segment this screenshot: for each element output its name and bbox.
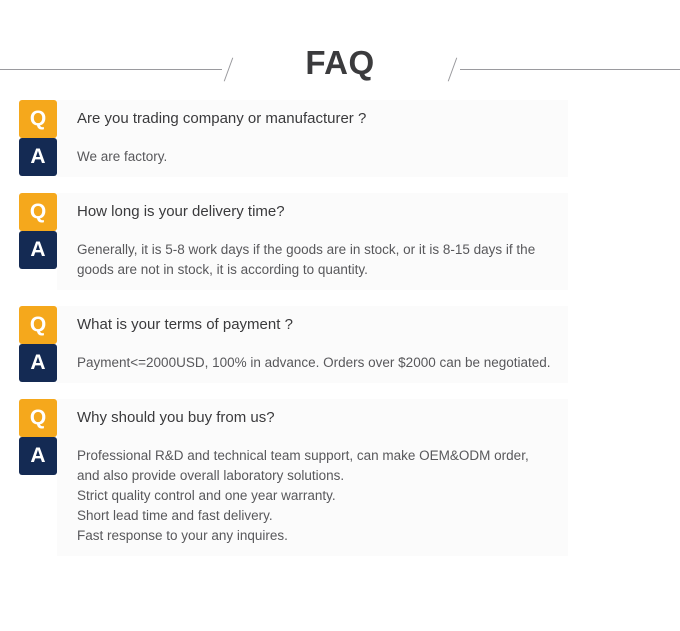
faq-answer-row: A Professional R&D and technical team su…: [0, 437, 680, 556]
question-panel: Why should you buy from us?: [57, 399, 568, 437]
faq-header: FAQ: [0, 0, 680, 100]
question-text: Why should you buy from us?: [77, 408, 275, 428]
answer-badge: A: [19, 138, 57, 176]
faq-item: Q How long is your delivery time? A Gene…: [0, 193, 680, 290]
question-panel: Are you trading company or manufacturer …: [57, 100, 568, 138]
faq-question-row[interactable]: Q Why should you buy from us?: [0, 399, 680, 437]
faq-item-gap: [0, 290, 680, 306]
faq-item-gap: [0, 383, 680, 399]
question-text: How long is your delivery time?: [77, 202, 285, 222]
faq-answer-row: A We are factory.: [0, 138, 680, 177]
question-panel: How long is your delivery time?: [57, 193, 568, 231]
answer-panel: We are factory.: [57, 138, 568, 177]
header-rule-right: [460, 69, 680, 70]
answer-text: We are factory.: [77, 147, 167, 167]
question-badge: Q: [19, 100, 57, 138]
question-text: What is your terms of payment ?: [77, 315, 293, 335]
faq-question-row[interactable]: Q How long is your delivery time?: [0, 193, 680, 231]
faq-question-row[interactable]: Q Are you trading company or manufacture…: [0, 100, 680, 138]
question-badge: Q: [19, 193, 57, 231]
answer-text: Professional R&D and technical team supp…: [77, 446, 554, 546]
question-panel: What is your terms of payment ?: [57, 306, 568, 344]
page-title: FAQ: [0, 43, 680, 83]
faq-answer-row: A Generally, it is 5-8 work days if the …: [0, 231, 680, 290]
answer-panel: Payment<=2000USD, 100% in advance. Order…: [57, 344, 568, 383]
faq-item-gap: [0, 177, 680, 193]
question-text: Are you trading company or manufacturer …: [77, 109, 366, 129]
faq-question-row[interactable]: Q What is your terms of payment ?: [0, 306, 680, 344]
question-badge: Q: [19, 399, 57, 437]
faq-item: Q What is your terms of payment ? A Paym…: [0, 306, 680, 383]
answer-panel: Generally, it is 5-8 work days if the go…: [57, 231, 568, 290]
answer-text: Generally, it is 5-8 work days if the go…: [77, 240, 554, 280]
faq-answer-row: A Payment<=2000USD, 100% in advance. Ord…: [0, 344, 680, 383]
question-badge: Q: [19, 306, 57, 344]
answer-badge: A: [19, 344, 57, 382]
answer-text: Payment<=2000USD, 100% in advance. Order…: [77, 353, 551, 373]
faq-list: Q Are you trading company or manufacture…: [0, 100, 680, 556]
answer-badge: A: [19, 231, 57, 269]
answer-badge: A: [19, 437, 57, 475]
answer-panel: Professional R&D and technical team supp…: [57, 437, 568, 556]
faq-item: Q Why should you buy from us? A Professi…: [0, 399, 680, 556]
faq-item: Q Are you trading company or manufacture…: [0, 100, 680, 177]
